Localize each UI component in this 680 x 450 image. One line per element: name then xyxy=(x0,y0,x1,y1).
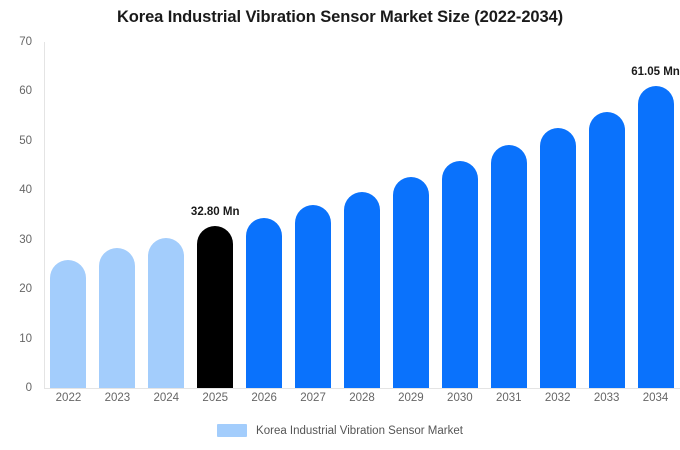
x-axis-tick-label-2027: 2027 xyxy=(289,392,337,404)
y-axis-tick-label: 10 xyxy=(0,333,32,345)
chart-container: Korea Industrial Vibration Sensor Market… xyxy=(0,0,680,450)
y-axis-tick-label: 20 xyxy=(0,283,32,295)
x-axis-tick-label-2034: 2034 xyxy=(632,392,680,404)
bar-value-label-2034: 61.05 Mn xyxy=(631,66,680,78)
bar-2022[interactable] xyxy=(50,260,86,389)
bar-2034[interactable] xyxy=(638,86,674,388)
bar-2023[interactable] xyxy=(99,248,135,388)
bar-2033[interactable] xyxy=(589,112,625,388)
x-axis-tick-label-2023: 2023 xyxy=(93,392,141,404)
x-axis-tick-label-2026: 2026 xyxy=(240,392,288,404)
x-axis-tick-label-2031: 2031 xyxy=(485,392,533,404)
bar-slot xyxy=(344,42,380,388)
plot-area: 32.80 Mn61.05 Mn xyxy=(44,42,680,388)
bar-value-label-2025: 32.80 Mn xyxy=(191,206,240,218)
bar-slot xyxy=(589,42,625,388)
chart-legend: Korea Industrial Vibration Sensor Market xyxy=(0,424,680,437)
x-axis-tick-label-2029: 2029 xyxy=(387,392,435,404)
y-axis-tick-label: 30 xyxy=(0,234,32,246)
bar-2032[interactable] xyxy=(540,128,576,388)
y-axis-tick-label: 40 xyxy=(0,184,32,196)
bar-slot xyxy=(393,42,429,388)
legend-label[interactable]: Korea Industrial Vibration Sensor Market xyxy=(256,425,463,437)
bar-slot xyxy=(442,42,478,388)
y-axis-tick-label: 50 xyxy=(0,135,32,147)
x-axis-tick-label-2032: 2032 xyxy=(534,392,582,404)
y-axis: 010203040506070 xyxy=(0,42,38,388)
bar-slot: 32.80 Mn xyxy=(197,42,233,388)
bar-slot xyxy=(148,42,184,388)
legend-swatch xyxy=(217,424,247,437)
bar-2024[interactable] xyxy=(148,238,184,388)
y-axis-tick-label: 70 xyxy=(0,36,32,48)
bar-slot xyxy=(246,42,282,388)
bar-2027[interactable] xyxy=(295,205,331,388)
bar-series: 32.80 Mn61.05 Mn xyxy=(44,42,680,388)
x-axis-tick-label-2033: 2033 xyxy=(583,392,631,404)
bar-slot xyxy=(491,42,527,388)
x-axis: 2022202320242025202620272028202920302031… xyxy=(44,390,680,412)
chart-title: Korea Industrial Vibration Sensor Market… xyxy=(0,8,680,27)
bar-2025[interactable] xyxy=(197,226,233,388)
bar-slot xyxy=(50,42,86,388)
bar-slot: 61.05 Mn xyxy=(638,42,674,388)
x-axis-tick-label-2022: 2022 xyxy=(44,392,92,404)
x-axis-tick-label-2024: 2024 xyxy=(142,392,190,404)
bar-slot xyxy=(99,42,135,388)
bar-2030[interactable] xyxy=(442,161,478,388)
bar-slot xyxy=(540,42,576,388)
x-axis-baseline xyxy=(44,388,680,389)
bar-2028[interactable] xyxy=(344,192,380,388)
bar-slot xyxy=(295,42,331,388)
x-axis-tick-label-2030: 2030 xyxy=(436,392,484,404)
bar-2031[interactable] xyxy=(491,145,527,388)
y-axis-tick-label: 60 xyxy=(0,85,32,97)
bar-2029[interactable] xyxy=(393,177,429,388)
x-axis-tick-label-2025: 2025 xyxy=(191,392,239,404)
x-axis-tick-label-2028: 2028 xyxy=(338,392,386,404)
bar-2026[interactable] xyxy=(246,218,282,388)
y-axis-tick-label: 0 xyxy=(0,382,32,394)
